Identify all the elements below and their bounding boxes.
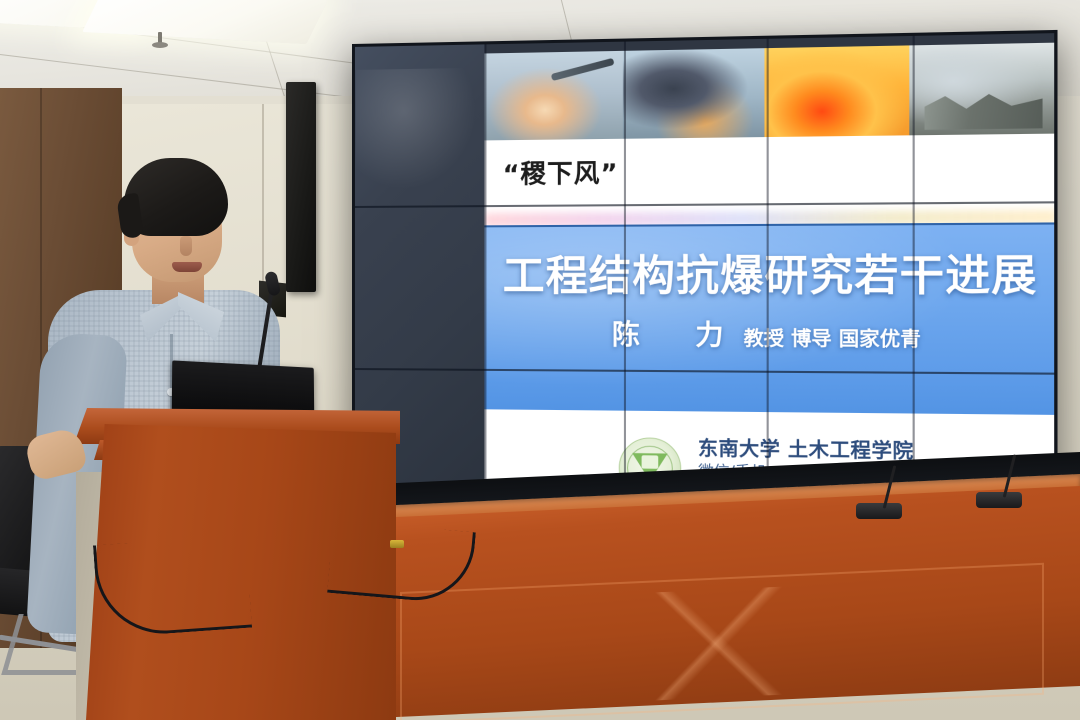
aircraft-blast-photo: [484, 51, 622, 141]
slide-banner-strip: [484, 43, 1057, 141]
presenter-nose: [180, 236, 192, 256]
sprinkler-head: [158, 32, 162, 45]
wall-mounted-loudspeaker: [286, 82, 316, 292]
smoke-plume-photo: [623, 48, 765, 139]
conference-microphone[interactable]: [976, 492, 1022, 508]
presenter-mouth: [172, 262, 202, 272]
fireball-explosion-photo: [764, 45, 909, 137]
slide-quote-label: “稷下风”: [503, 153, 619, 191]
rubble-damage-photo: [909, 43, 1057, 136]
led-bezel-vertical: [767, 36, 769, 541]
led-bezel-vertical: [624, 39, 626, 538]
presenter-titles: 教授 博导 国家优青: [744, 327, 921, 351]
led-bezel-vertical: [484, 41, 486, 534]
presenter-name: 陈 力: [612, 320, 737, 352]
presenter-hair: [124, 158, 228, 236]
lecture-hall-photo: “稷下风” 工程结构抗爆研究若干进展 陈 力教授 博导 国家优青 东南大学 土木…: [0, 0, 1080, 720]
fluorescent-panel-light: [82, 0, 328, 44]
slide-presenter-line: 陈 力教授 博导 国家优青: [484, 312, 1057, 354]
vga-connector: [390, 540, 404, 548]
conference-microphone[interactable]: [856, 503, 902, 519]
panel-glare: [356, 68, 476, 190]
slide-title: 工程结构抗爆研究若干进展: [484, 239, 1057, 302]
